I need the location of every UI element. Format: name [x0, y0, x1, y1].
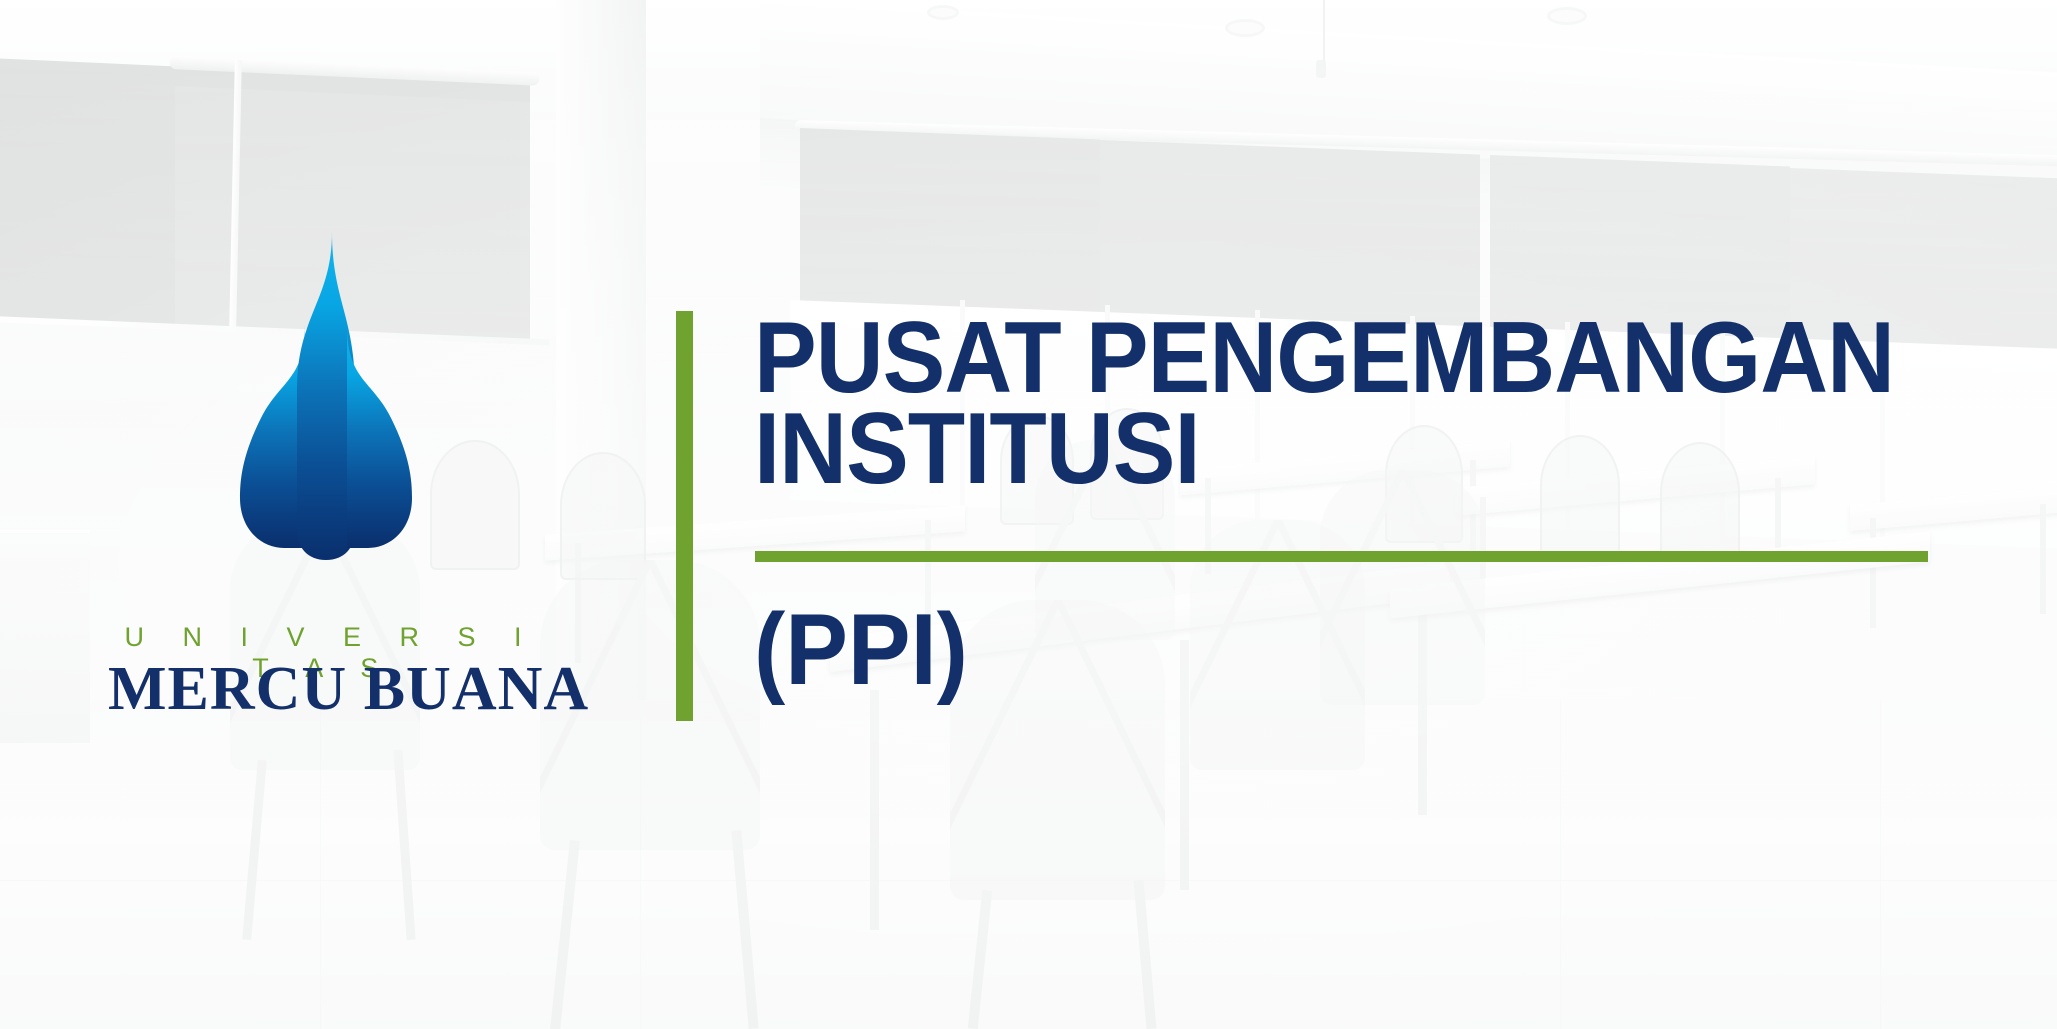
logo-name: MERCU BUANA	[108, 654, 538, 725]
mercu-buana-flame-icon	[236, 230, 416, 560]
green-horizontal-divider	[755, 551, 1928, 562]
banner-content: U N I V E R S I T A S MERCU BUANA PUSAT …	[0, 0, 2057, 1029]
title-line-2: INSTITUSI	[754, 404, 1926, 495]
page-title: PUSAT PENGEMBANGAN INSTITUSI	[754, 313, 1926, 495]
banner-root: U N I V E R S I T A S MERCU BUANA PUSAT …	[0, 0, 2057, 1029]
university-logo: U N I V E R S I T A S MERCU BUANA	[108, 230, 538, 700]
green-vertical-divider	[676, 311, 693, 721]
title-acronym: (PPI)	[754, 600, 968, 701]
